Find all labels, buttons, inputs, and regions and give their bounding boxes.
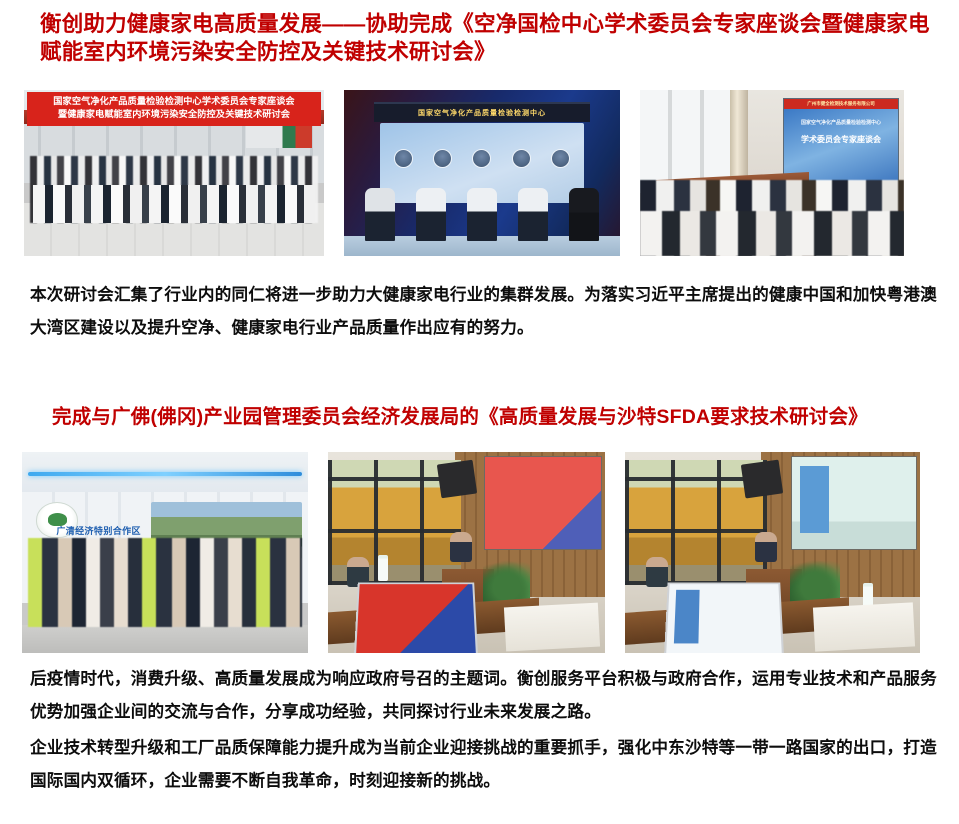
banner-line-2: 暨健康家电赋能室内环境污染安全防控及关键技术研讨会 — [29, 108, 319, 121]
photo-documents — [813, 602, 915, 651]
screen-title-line-1: 国家空气净化产品质量检验检测中心 — [784, 119, 898, 126]
photo-speaker-person — [450, 532, 472, 562]
photo-speaker-person — [755, 532, 777, 562]
photo-laptop-screen-red — [354, 582, 478, 653]
panelist — [569, 188, 599, 241]
section-2-paragraph-2: 企业技术转型升级和工厂品质保障能力提升成为当前企业迎接挑战的重要抓手，强化中东沙… — [30, 731, 950, 797]
photo-projection-screen: 广州市健全检测技术服务有限公司 国家空气净化产品质量检验检测中心 学术委员会专家… — [783, 98, 899, 183]
section-1-paragraph-1: 本次研讨会汇集了行业内的同仁将进一步助力大健康家电行业的集群发展。为落实习近平主… — [30, 278, 950, 344]
screen-title-line-2: 学术委员会专家座谈会 — [784, 134, 898, 145]
photo-panelists — [355, 171, 609, 241]
section-2-heading: 完成与广佛(佛冈)产业园管理委员会经济发展局的《高质量发展与沙特SFDA要求技术… — [52, 405, 942, 431]
avatar — [394, 149, 413, 168]
photo-exhibition-hall-group-photo: 广清经济特别合作区 广佛（佛冈）产业园 — [22, 452, 308, 653]
panelist — [365, 188, 395, 241]
photo-seated-attendee — [646, 557, 668, 587]
photo-podium-speaker-female — [625, 452, 920, 653]
photo-stage-header-board: 国家空气净化产品质量检验检测中心 — [374, 102, 589, 122]
photo-projection-slide-blue — [791, 456, 917, 550]
panelist — [416, 188, 446, 241]
photo-hall-floor — [22, 625, 308, 653]
photo-group-photo-outdoor: 国家空气净化产品质量检验检测中心学术委员会专家座谈会 暨健康家电赋能室内环境污染… — [24, 90, 324, 256]
section-2-paragraph-1: 后疫情时代，消费升级、高质量发展成为响应政府号召的主题词。衡创服务平台积极与政府… — [30, 662, 950, 728]
photo-group-people — [28, 538, 303, 626]
avatar — [512, 149, 531, 168]
avatar — [433, 149, 452, 168]
wall-text-line-1: 广清经济特别合作区 — [56, 524, 141, 537]
photo-ceiling-speaker — [437, 460, 477, 499]
stage-header-text: 国家空气净化产品质量检验检测中心 — [374, 104, 589, 122]
photo-red-banner: 国家空气净化产品质量检验检测中心学术委员会专家座谈会 暨健康家电赋能室内环境污染… — [27, 92, 321, 126]
photo-crowd-front-row — [33, 185, 315, 223]
avatar — [472, 149, 491, 168]
avatar — [551, 149, 570, 168]
banner-line-1: 国家空气净化产品质量检验检测中心学术委员会专家座谈会 — [29, 95, 319, 108]
screen-banner-text: 广州市健全检测技术服务有限公司 — [784, 99, 898, 109]
photo-documents — [504, 602, 600, 651]
photo-projection-slide-red — [484, 456, 602, 550]
report-page: 衡创助力健康家电高质量发展——协助完成《空净国检中心学术委员会专家座谈会暨健康家… — [0, 0, 959, 824]
photo-stage-panel-discussion: 国家空气净化产品质量检验检测中心 — [344, 90, 620, 256]
panelist — [467, 188, 497, 241]
photo-screen-avatars — [394, 145, 571, 172]
photo-laptop-screen-blue — [664, 582, 784, 653]
photo-water-bottle — [378, 555, 388, 581]
section-1-photo-row: 国家空气净化产品质量检验检测中心学术委员会专家座谈会 暨健康家电赋能室内环境污染… — [24, 90, 904, 256]
photo-podium-speaker-male — [328, 452, 605, 653]
photo-ceiling-speaker — [741, 460, 784, 499]
section-2-photo-row: 广清经济特别合作区 广佛（佛冈）产业园 — [22, 452, 920, 653]
photo-audience-front — [640, 211, 904, 256]
photo-led-strip — [28, 472, 303, 476]
panelist — [518, 188, 548, 241]
section-1-heading: 衡创助力健康家电高质量发展——协助完成《空净国检中心学术委员会专家座谈会暨健康家… — [40, 10, 940, 67]
photo-conference-room-meeting: 广州市健全检测技术服务有限公司 国家空气净化产品质量检验检测中心 学术委员会专家… — [640, 90, 904, 256]
